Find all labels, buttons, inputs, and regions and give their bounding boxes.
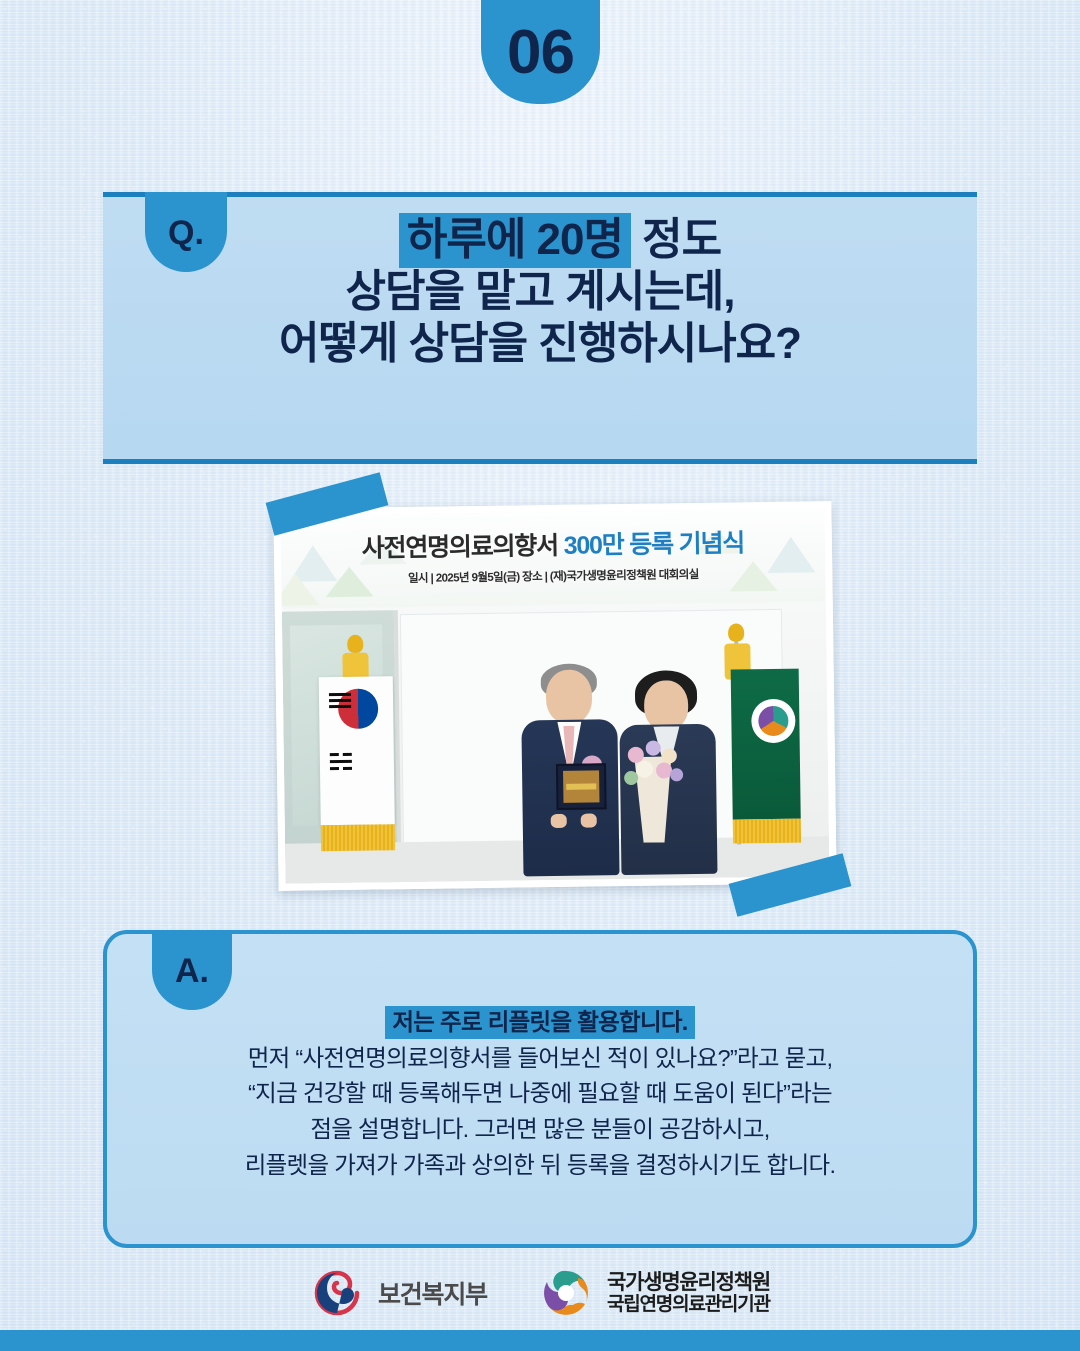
bouquet bbox=[614, 738, 694, 849]
answer-line-2: 먼저 “사전연명의료의향서를 들어보신 적이 있나요?”라고 묻고, bbox=[120, 1041, 960, 1077]
infographic-card: 06 Q. 하루에 20명 정도 상담을 맡고 계시는데, 어떻게 상담을 진행… bbox=[0, 0, 1080, 1351]
answer-badge-label: A. bbox=[175, 952, 209, 988]
institute-label-line1: 국가생명윤리정책원 bbox=[607, 1271, 770, 1295]
question-text: 하루에 20명 정도 상담을 맡고 계시는데, 어떻게 상담을 진행하시나요? bbox=[103, 214, 977, 370]
answer-line-5: 리플렛을 가져가 가족과 상의한 뒤 등록을 결정하시기도 합니다. bbox=[120, 1148, 960, 1184]
institute-label-line2: 국립연명의료관리기관 bbox=[607, 1294, 770, 1315]
award-plaque bbox=[556, 763, 607, 810]
organization-flag-icon bbox=[722, 629, 803, 845]
event-photo: 사전연명의료의향서 300만 등록 기념식 일시 | 2025년 9월5일(금)… bbox=[273, 501, 836, 891]
photo-banner-title: 사전연명의료의향서 300만 등록 기념식 bbox=[281, 522, 825, 566]
answer-badge: A. bbox=[152, 930, 232, 1010]
question-line-1-rest: 정도 bbox=[631, 215, 721, 264]
ministry-logo-group: 보건복지부 bbox=[310, 1266, 487, 1320]
taeguk-icon bbox=[310, 1266, 364, 1320]
bottom-accent-bar bbox=[0, 1330, 1080, 1351]
question-line-1: 하루에 20명 정도 bbox=[103, 214, 977, 266]
pinwheel-icon bbox=[539, 1266, 593, 1320]
answer-line-1: 저는 주로 리플릿을 활용합니다. bbox=[120, 1005, 960, 1041]
institute-label: 국가생명윤리정책원 국립연명의료관리기관 bbox=[607, 1271, 770, 1316]
ministry-label: 보건복지부 bbox=[378, 1275, 487, 1311]
question-line-2: 상담을 맡고 계시는데, bbox=[103, 266, 977, 318]
answer-highlight: 저는 주로 리플릿을 활용합니다. bbox=[385, 1006, 694, 1039]
answer-text: 저는 주로 리플릿을 활용합니다. 먼저 “사전연명의료의향서를 들어보신 적이… bbox=[120, 1005, 960, 1184]
photo-banner-title-blue: 300만 등록 기념식 bbox=[563, 529, 744, 560]
footer: 보건복지부 국가생명윤리정책원 국립연명의료관리기관 bbox=[0, 1258, 1080, 1328]
answer-line-3: “지금 건강할 때 등록해두면 나중에 필요할 때 도움이 된다”라는 bbox=[120, 1076, 960, 1112]
card-number-label: 06 bbox=[507, 16, 574, 84]
institute-logo-group: 국가생명윤리정책원 국립연명의료관리기관 bbox=[539, 1266, 770, 1320]
photo-banner: 사전연명의료의향서 300만 등록 기념식 일시 | 2025년 9월5일(금)… bbox=[280, 508, 825, 609]
photo-block: 사전연명의료의향서 300만 등록 기념식 일시 | 2025년 9월5일(금)… bbox=[270, 495, 843, 900]
question-line-3: 어떻게 상담을 진행하시나요? bbox=[103, 318, 977, 370]
card-number-badge: 06 bbox=[481, 0, 600, 104]
question-highlight: 하루에 20명 bbox=[399, 213, 631, 268]
photo-banner-title-plain: 사전연명의료의향서 bbox=[362, 532, 564, 563]
korean-flag-icon bbox=[320, 640, 393, 851]
answer-line-4: 점을 설명합니다. 그러면 많은 분들이 공감하시고, bbox=[120, 1112, 960, 1148]
